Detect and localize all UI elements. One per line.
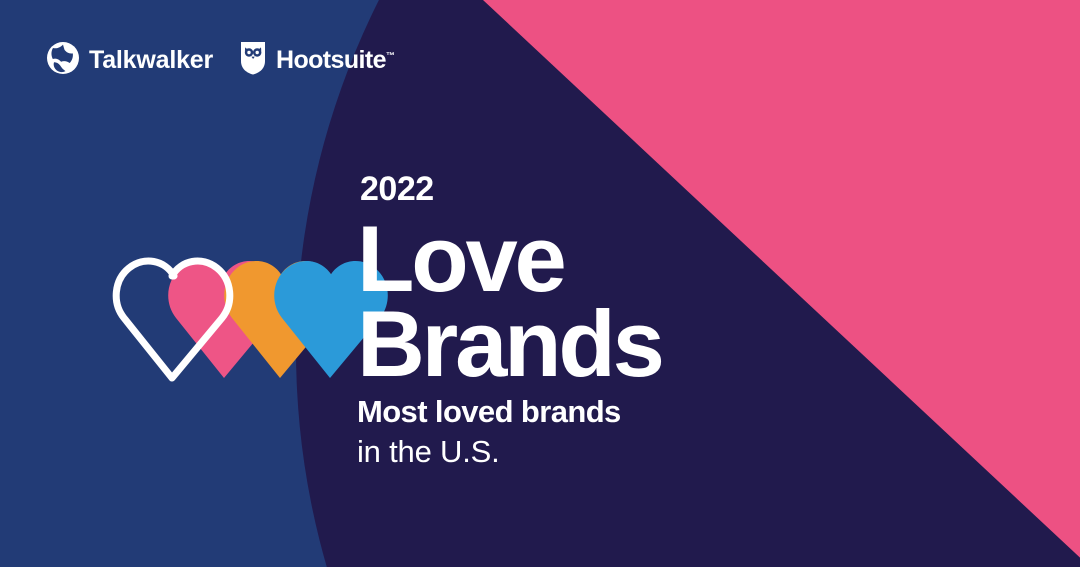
headline-block: 2022 Love Brands [357, 172, 662, 384]
partner-logo-bar: Talkwalker Hootsuite™ [46, 40, 394, 81]
subtitle-line-2: in the U.S. [357, 433, 621, 471]
subtitle-line-1: Most loved brands [357, 393, 621, 431]
title-line-1: Love [357, 220, 662, 299]
hootsuite-logo[interactable]: Hootsuite™ [239, 40, 394, 81]
hootsuite-owl-shield-icon [239, 40, 267, 81]
hootsuite-trademark-symbol: ™ [386, 51, 394, 61]
love-brands-banner: Talkwalker Hootsuite™ [0, 0, 1080, 567]
hootsuite-wordmark: Hootsuite™ [276, 48, 394, 73]
talkwalker-logo[interactable]: Talkwalker [46, 41, 213, 80]
talkwalker-circle-icon [46, 41, 80, 80]
subtitle-block: Most loved brands in the U.S. [357, 393, 621, 471]
year-label: 2022 [360, 172, 662, 206]
hootsuite-wordmark-text: Hootsuite [276, 46, 386, 74]
talkwalker-wordmark: Talkwalker [89, 48, 213, 73]
love-brands-heart-logo [112, 208, 336, 388]
title-line-2: Brands [357, 305, 662, 384]
